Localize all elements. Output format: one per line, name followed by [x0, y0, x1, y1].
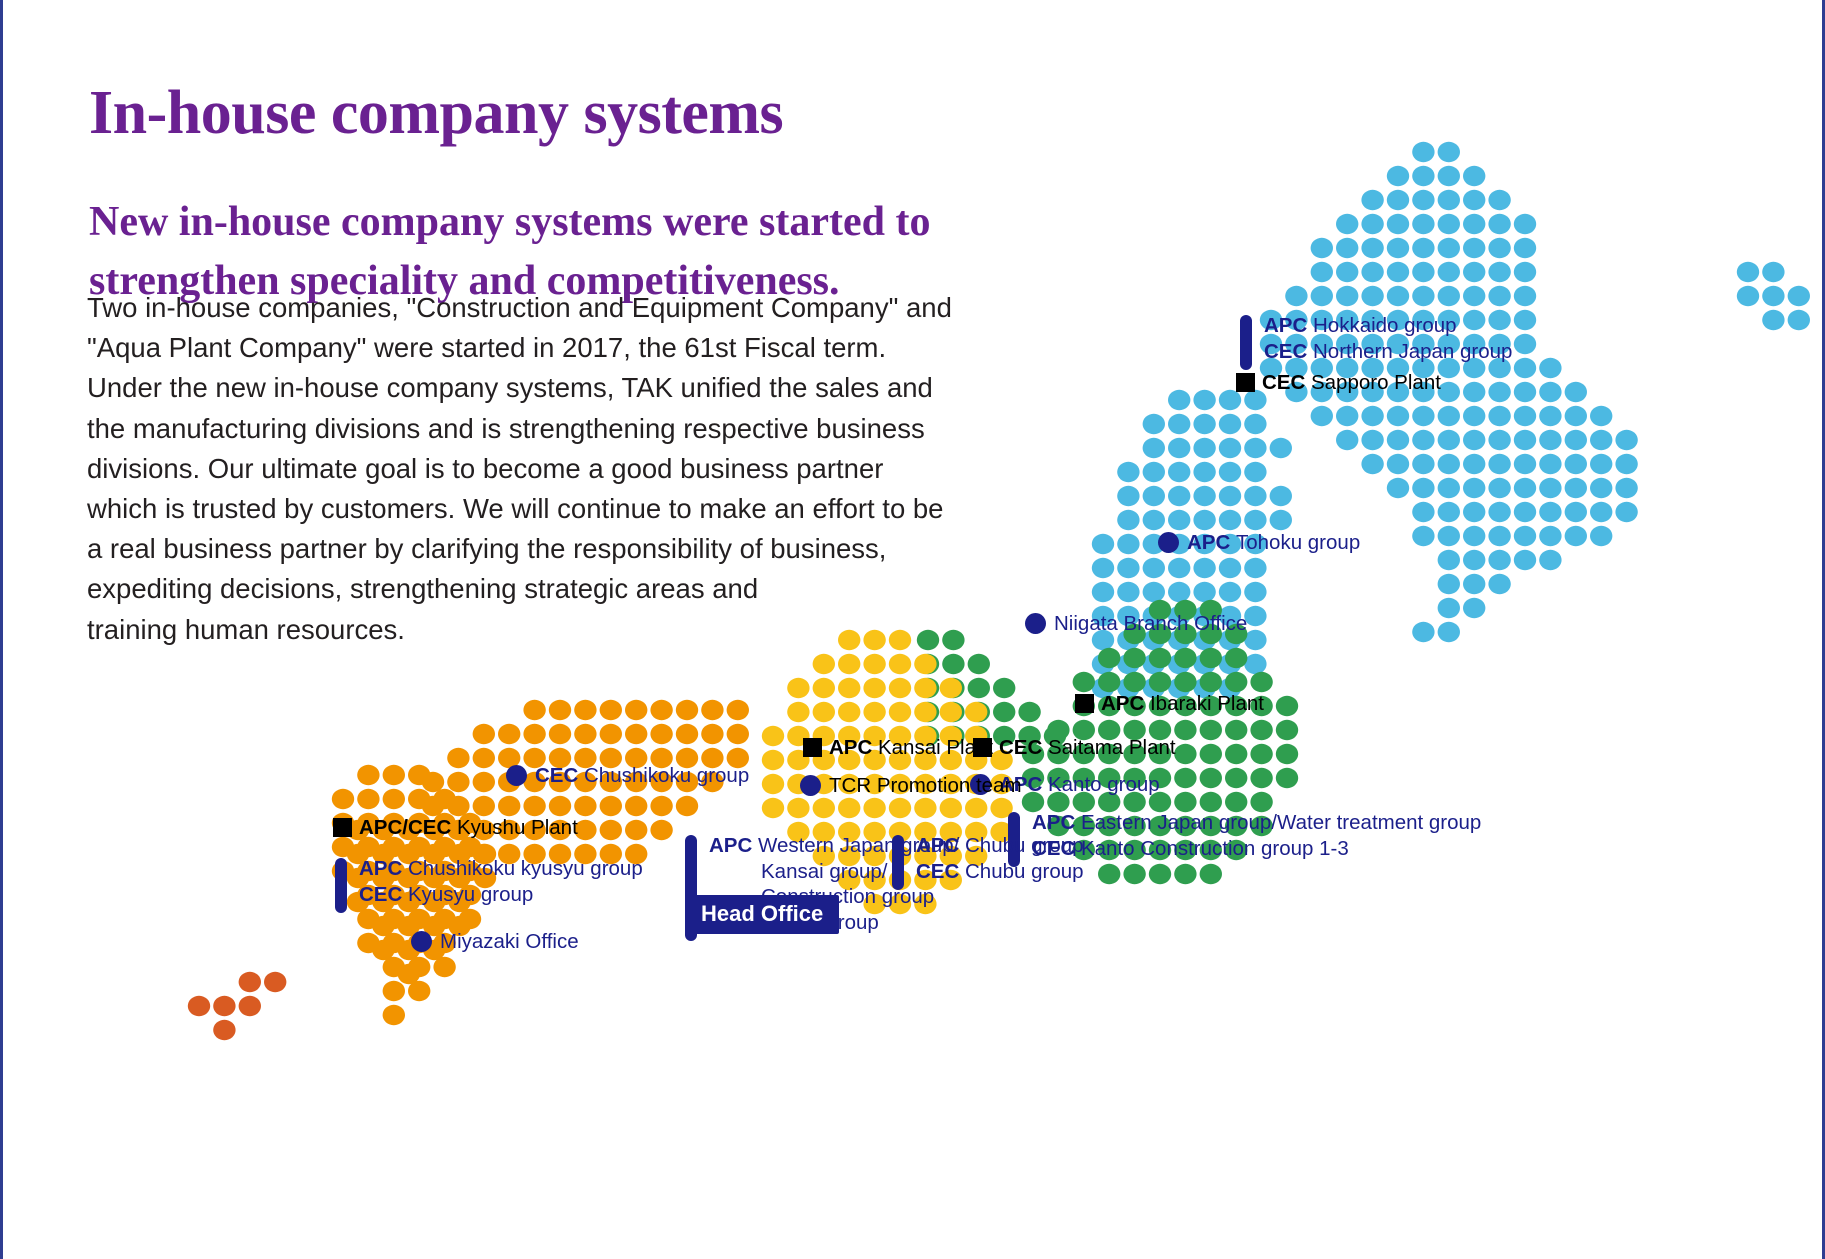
label-code: APC [829, 736, 878, 759]
page-frame: In-house company systems New in-house co… [0, 0, 1825, 1259]
label-code: CEC [359, 883, 408, 906]
map-label-row: CEC Chubu group [916, 859, 1084, 885]
map-label-miyazaki-office[interactable]: Miyazaki Office [411, 931, 579, 953]
map-label-row: APC Chushikoku kyusyu group [359, 856, 643, 882]
label-code: APC/CEC [359, 816, 457, 839]
label-code: APC [1032, 811, 1081, 834]
label-code: CEC [535, 764, 584, 787]
label-code: APC [1264, 314, 1313, 337]
map-label-row: APC Hokkaido group [1264, 313, 1512, 339]
map-label-row: APC Eastern Japan group/Water treatment … [1032, 810, 1481, 836]
map-label-niigata-branch-office[interactable]: Niigata Branch Office [1025, 613, 1247, 635]
bar-marker-icon [335, 858, 347, 913]
map-label-hokkaido-groups[interactable]: APC Hokkaido groupCEC Northern Japan gro… [1240, 313, 1512, 364]
map-label-row: CEC Chushikoku group [506, 765, 749, 787]
page-title: In-house company systems [89, 78, 783, 149]
label-code: APC [359, 857, 408, 880]
circle-marker-icon [411, 931, 432, 952]
bar-marker-icon [1240, 315, 1252, 370]
map-label-chushikoku-group[interactable]: CEC Chushikoku group [506, 765, 749, 787]
map-label-row: APC Ibaraki Plant [1075, 694, 1264, 715]
map-label-chubu-groups[interactable]: APC Chubu groupCEC Chubu group [892, 833, 1084, 884]
square-marker-icon [1075, 694, 1094, 713]
label-code: APC [1101, 692, 1150, 715]
label-code: CEC [999, 736, 1048, 759]
head-office-marker[interactable]: Head Office [685, 895, 839, 934]
map-label-chushikoku-kyusyu-groups[interactable]: APC Chushikoku kyusyu groupCEC Kyusyu gr… [335, 856, 643, 907]
label-code: CEC [1262, 371, 1311, 394]
map-label-row: APC Kansai Plant [803, 738, 993, 759]
map-label-saitama-plant[interactable]: CEC Saitama Plant [973, 738, 1176, 759]
map-label-kyushu-plant[interactable]: APC/CEC Kyushu Plant [333, 818, 578, 839]
circle-marker-icon [1158, 532, 1179, 553]
circle-marker-icon [506, 765, 527, 786]
map-label-row: TCR Promotion team [800, 775, 1022, 797]
circle-marker-icon [800, 775, 821, 796]
label-code: APC [1187, 531, 1236, 554]
circle-marker-icon [1025, 613, 1046, 634]
body-paragraph: Two in-house companies, "Construction an… [87, 288, 1017, 650]
map-label-row: APC/CEC Kyushu Plant [333, 818, 578, 839]
map-label-row: APC Tohoku group [1158, 532, 1360, 554]
map-label-row: CEC Sapporo Plant [1236, 373, 1441, 394]
square-marker-icon [1236, 373, 1255, 392]
map-label-row: CEC Kyusyu group [359, 882, 643, 908]
map-label-row: APC Chubu group [916, 833, 1084, 859]
map-label-kansai-plant[interactable]: APC Kansai Plant [803, 738, 993, 759]
map-label-ibaraki-plant[interactable]: APC Ibaraki Plant [1075, 694, 1264, 715]
label-code: APC [709, 834, 758, 857]
label-code: APC [916, 834, 965, 857]
map-label-row: Miyazaki Office [411, 931, 579, 953]
map-label-row: Niigata Branch Office [1025, 613, 1247, 635]
map-label-row: CEC Northern Japan group [1264, 339, 1512, 365]
map-label-tohoku-group[interactable]: APC Tohoku group [1158, 532, 1360, 554]
label-code: CEC [916, 860, 965, 883]
square-marker-icon [803, 738, 822, 757]
map-label-row: CEC Saitama Plant [973, 738, 1176, 759]
map-label-row: CEC Kanto Construction group 1-3 [1032, 836, 1481, 862]
label-code: CEC [1264, 340, 1313, 363]
bar-marker-icon [892, 835, 904, 890]
square-marker-icon [333, 818, 352, 837]
map-label-tcr-promotion-team[interactable]: TCR Promotion team [800, 775, 1022, 797]
map-label-sapporo-plant[interactable]: CEC Sapporo Plant [1236, 373, 1441, 394]
